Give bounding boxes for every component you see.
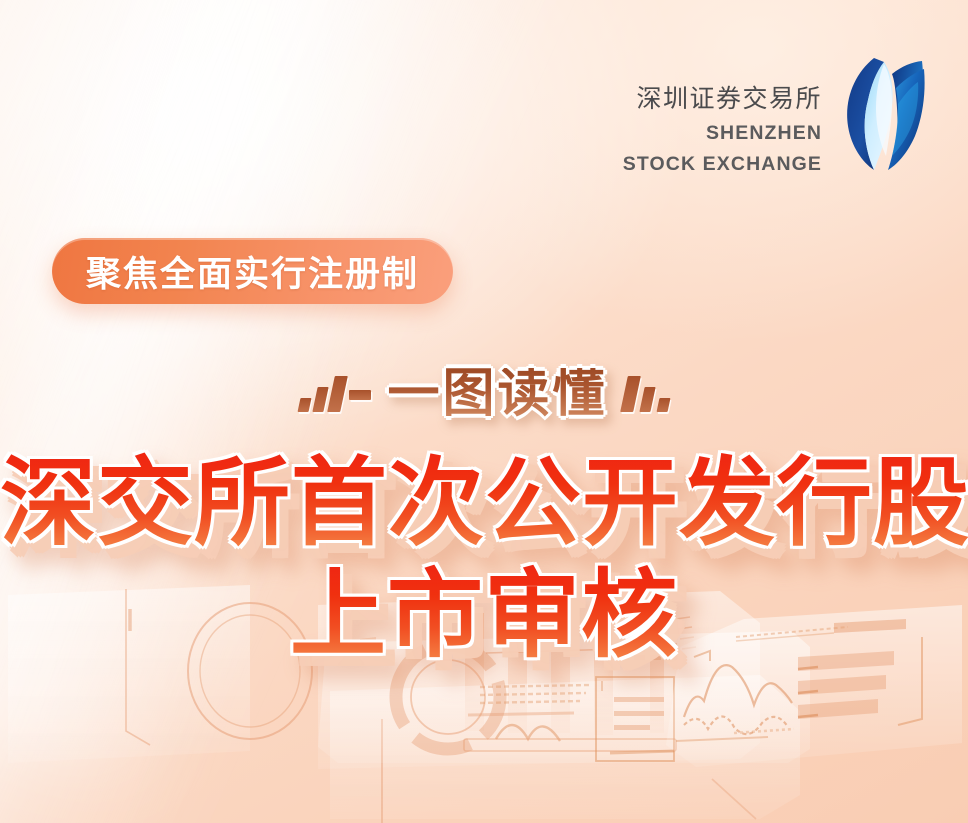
brand-name-english-line2: STOCK EXCHANGE (623, 152, 822, 177)
descending-bars-icon (624, 376, 669, 412)
brand-name-chinese: 深圳证券交易所 (623, 84, 822, 115)
main-title-line-2: 上市审核 (0, 564, 968, 668)
focus-topic-badge: 聚焦全面实行注册制 (52, 238, 453, 304)
subheadline-row: 一图读懂 (0, 368, 968, 420)
brand-logo: 深圳证券交易所 SHENZHEN STOCK EXCHANGE (623, 52, 928, 177)
ascending-bars-icon (299, 376, 371, 412)
brand-logo-text: 深圳证券交易所 SHENZHEN STOCK EXCHANGE (623, 52, 822, 177)
subheadline-text: 一图读懂 (387, 368, 607, 420)
brand-name-english-line1: SHENZHEN (623, 121, 822, 146)
poster-canvas: 深圳证券交易所 SHENZHEN STOCK EXCHANGE (0, 0, 968, 823)
main-title-line-1: 深交所首次公开发行股票 (0, 452, 968, 556)
decoration-document-card (596, 677, 674, 761)
shenzhen-stock-exchange-leaf-mark-icon (836, 52, 928, 174)
main-title: 深交所首次公开发行股票 上市审核 (0, 452, 968, 667)
decoration-line-chart (684, 665, 792, 734)
focus-topic-badge-label: 聚焦全面实行注册制 (86, 246, 419, 297)
